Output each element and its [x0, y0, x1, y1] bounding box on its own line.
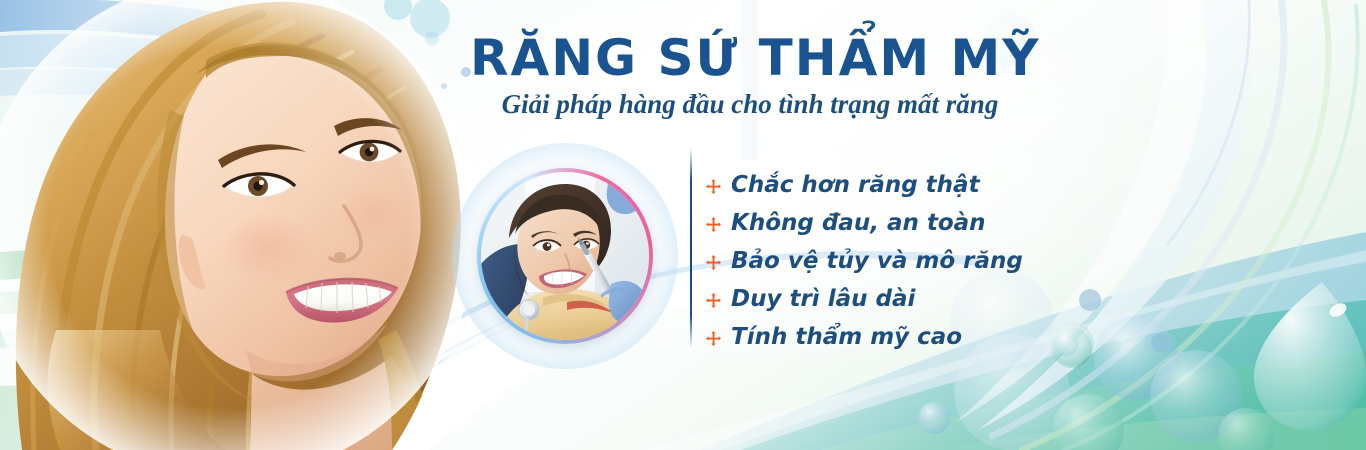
benefit-label: Không đau, an toàn: [731, 210, 986, 236]
page-subtitle: Giải pháp hàng đầu cho tình trạng mất ră…: [470, 88, 1030, 120]
benefit-label: Duy trì lâu dài: [731, 286, 915, 312]
list-item: Tính thẩm mỹ cao: [706, 318, 1023, 356]
dental-patient-inset-photo: [477, 168, 653, 344]
four-way-arrow-cross-icon: [706, 293, 721, 308]
list-item: Chắc hơn răng thật: [706, 166, 1023, 204]
promo-banner: RĂNG SỨ THẨM MỸ Giải pháp hàng đầu cho t…: [0, 0, 1366, 450]
list-item: Không đau, an toàn: [706, 204, 1023, 242]
dental-patient-illustration: [481, 172, 649, 340]
list-item: Bảo vệ tủy và mô răng: [706, 242, 1023, 280]
four-way-arrow-cross-icon: [706, 331, 721, 346]
four-way-arrow-cross-icon: [706, 217, 721, 232]
benefit-label: Bảo vệ tủy và mô răng: [731, 248, 1023, 274]
benefits-list: Chắc hơn răng thật Không đau, an toàn Bả…: [706, 166, 1023, 356]
benefit-label: Tính thẩm mỹ cao: [731, 324, 962, 350]
headline-block: RĂNG SỨ THẨM MỸ Giải pháp hàng đầu cho t…: [470, 32, 1030, 120]
four-way-arrow-cross-icon: [706, 255, 721, 270]
benefit-label: Chắc hơn răng thật: [731, 172, 980, 198]
vertical-divider: [690, 148, 692, 348]
four-way-arrow-cross-icon: [706, 179, 721, 194]
page-title: RĂNG SỨ THẨM MỸ: [470, 32, 1030, 84]
list-item: Duy trì lâu dài: [706, 280, 1023, 318]
